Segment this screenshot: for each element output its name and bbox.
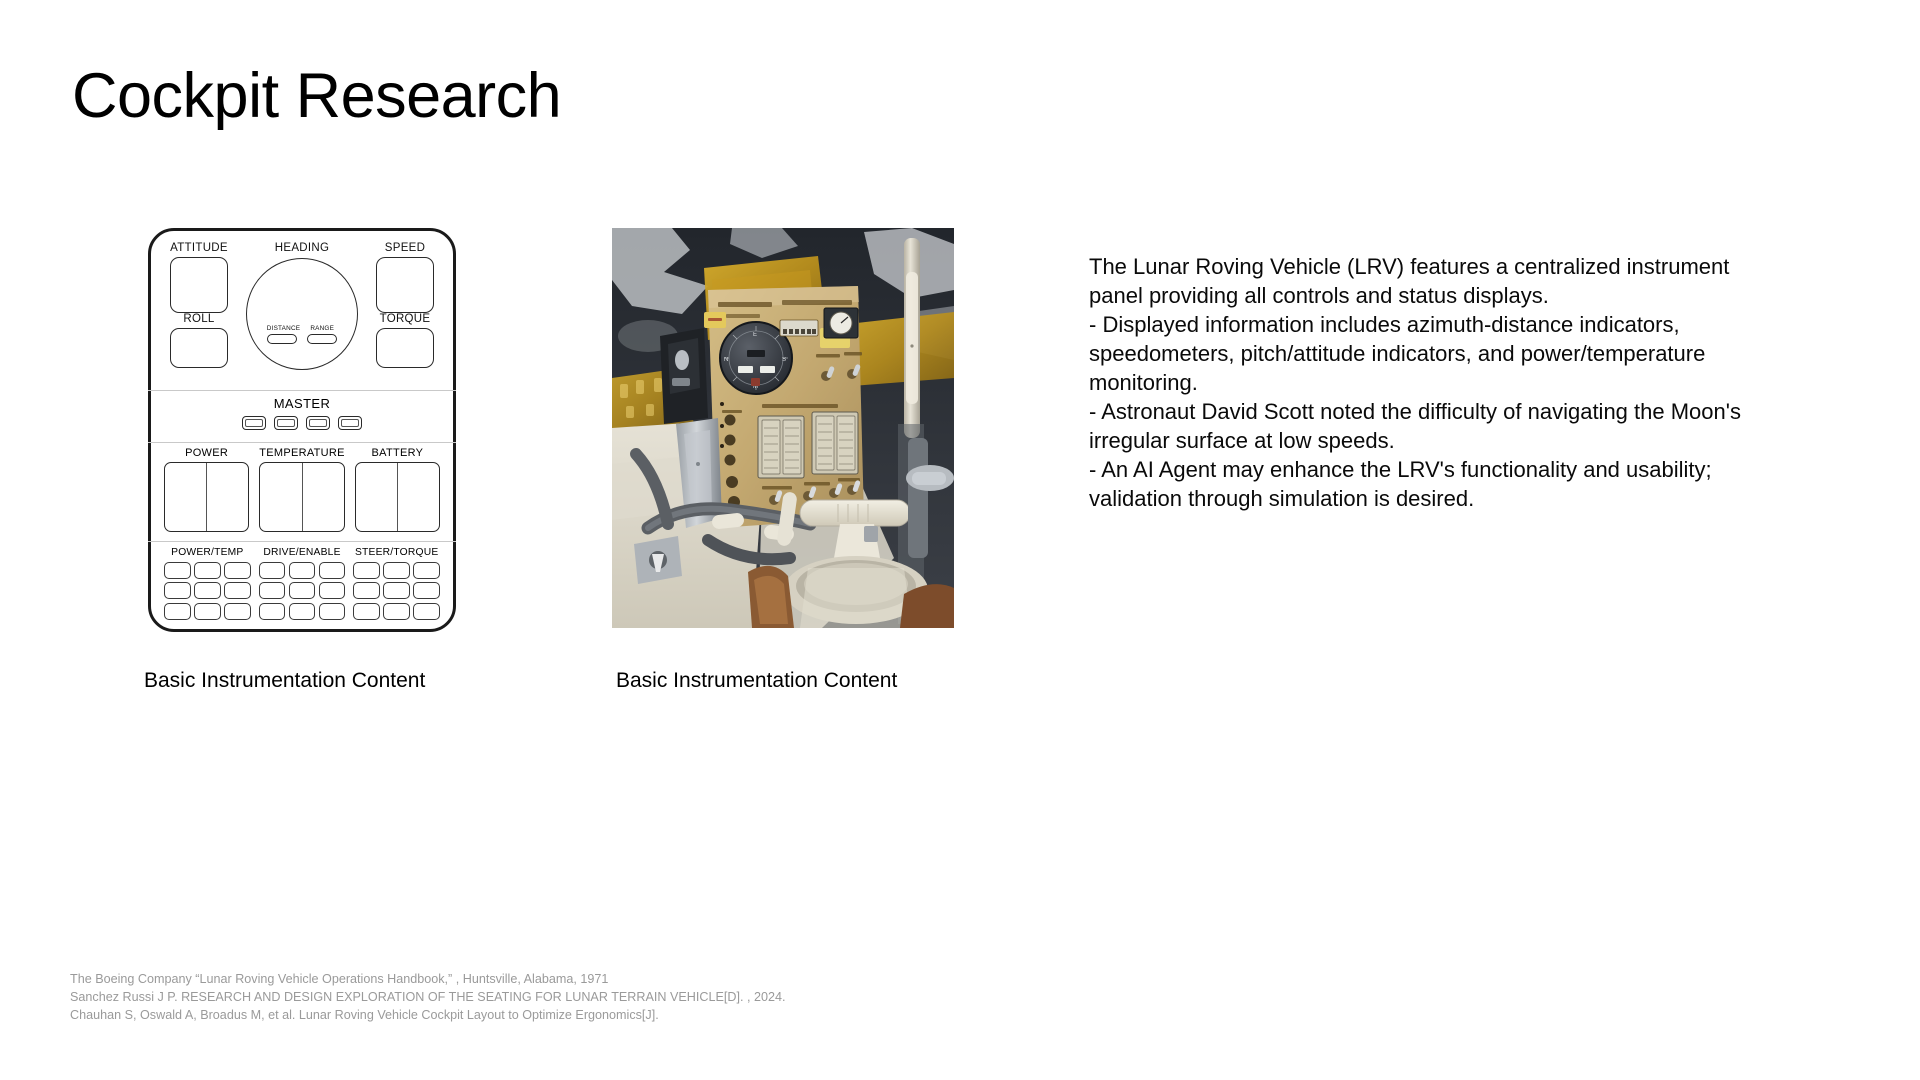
switch-cell[interactable] (383, 603, 410, 620)
switch-cell[interactable] (164, 603, 191, 620)
master-button[interactable] (306, 416, 330, 430)
switch-cell[interactable] (289, 582, 316, 599)
description-text: The Lunar Roving Vehicle (LRV) features … (1089, 252, 1771, 513)
master-button[interactable] (338, 416, 362, 430)
citation-line: Chauhan S, Oswald A, Broadus M, et al. L… (70, 1006, 785, 1024)
power-label: POWER (164, 447, 249, 459)
drive-enable-grid (259, 562, 346, 620)
switch-cell[interactable] (164, 562, 191, 579)
switch-cell[interactable] (353, 603, 380, 620)
range-readout: RANGE (307, 325, 337, 344)
switch-cell[interactable] (259, 582, 286, 599)
switch-cell[interactable] (413, 562, 440, 579)
range-display (307, 334, 337, 344)
temperature-label: TEMPERATURE (259, 447, 345, 459)
switch-cell[interactable] (413, 603, 440, 620)
drive-enable-switch-bank: DRIVE/ENABLE (259, 547, 346, 620)
panel-top-row: ATTITUDE ROLL HEADING DISTANCE RANGE (164, 242, 440, 390)
distance-readout: DISTANCE (267, 325, 300, 344)
heading-dial: DISTANCE RANGE (246, 258, 358, 370)
power-meter (164, 462, 249, 532)
master-button-group (164, 416, 440, 430)
switch-cell[interactable] (259, 562, 286, 579)
switch-cell[interactable] (194, 562, 221, 579)
heading-column: HEADING DISTANCE RANGE (242, 242, 362, 370)
citation-line: Sanchez Russi J P. RESEARCH AND DESIGN E… (70, 988, 785, 1006)
photo-caption: Basic Instrumentation Content (616, 668, 897, 694)
switch-cell[interactable] (289, 562, 316, 579)
photo-frame: E N M S (612, 228, 954, 628)
roll-label: ROLL (170, 313, 228, 326)
steer-torque-label: STEER/TORQUE (353, 547, 440, 558)
steer-torque-switch-bank: STEER/TORQUE (353, 547, 440, 620)
steer-torque-grid (353, 562, 440, 620)
attitude-label: ATTITUDE (170, 242, 228, 255)
power-meter-group: POWER (164, 447, 249, 541)
switch-cell[interactable] (224, 562, 251, 579)
instrument-panel-diagram: ATTITUDE ROLL HEADING DISTANCE RANGE (148, 228, 456, 632)
battery-meter (355, 462, 440, 532)
distance-display (267, 334, 297, 344)
switch-cell[interactable] (319, 582, 346, 599)
switch-cell[interactable] (289, 603, 316, 620)
switch-cell[interactable] (319, 562, 346, 579)
drive-enable-label: DRIVE/ENABLE (259, 547, 346, 558)
torque-label: TORQUE (376, 313, 434, 326)
switch-cell[interactable] (413, 582, 440, 599)
switch-cell[interactable] (353, 562, 380, 579)
switch-banks-section: POWER/TEMP DRIVE/ENABLE (164, 542, 440, 620)
master-button[interactable] (274, 416, 298, 430)
master-button[interactable] (242, 416, 266, 430)
switch-cell[interactable] (383, 582, 410, 599)
citations-block: The Boeing Company “Lunar Roving Vehicle… (70, 970, 785, 1024)
heading-label: HEADING (242, 242, 362, 255)
switch-cell[interactable] (194, 582, 221, 599)
distance-label: DISTANCE (267, 325, 300, 333)
temperature-meter-group: TEMPERATURE (259, 447, 345, 541)
speed-label: SPEED (376, 242, 434, 255)
page-title: Cockpit Research (72, 62, 561, 131)
battery-meter-group: BATTERY (355, 447, 440, 541)
svg-text:E: E (753, 332, 757, 338)
switch-cell[interactable] (224, 582, 251, 599)
speed-indicator (376, 257, 434, 313)
temperature-meter (259, 462, 345, 532)
switch-cell[interactable] (164, 582, 191, 599)
attitude-roll-column: ATTITUDE ROLL (170, 242, 228, 368)
switch-cell[interactable] (319, 603, 346, 620)
lrv-console-photo: E N M S (612, 228, 954, 628)
speed-torque-column: SPEED TORQUE (376, 242, 434, 368)
battery-label: BATTERY (355, 447, 440, 459)
photo-image: E N M S (612, 228, 954, 628)
power-temp-grid (164, 562, 251, 620)
power-temp-switch-bank: POWER/TEMP (164, 547, 251, 620)
switch-cell[interactable] (224, 603, 251, 620)
switch-cell[interactable] (383, 562, 410, 579)
switch-cell[interactable] (194, 603, 221, 620)
roll-indicator (170, 328, 228, 368)
citation-line: The Boeing Company “Lunar Roving Vehicle… (70, 970, 785, 988)
master-label: MASTER (164, 396, 440, 411)
switch-cell[interactable] (259, 603, 286, 620)
meters-section: POWER TEMPERATURE BATTERY (164, 443, 440, 541)
torque-indicator (376, 328, 434, 368)
power-temp-label: POWER/TEMP (164, 547, 251, 558)
attitude-indicator (170, 257, 228, 313)
range-label: RANGE (307, 325, 337, 333)
master-section: MASTER (164, 391, 440, 442)
panel-diagram-caption: Basic Instrumentation Content (144, 668, 425, 694)
switch-cell[interactable] (353, 582, 380, 599)
